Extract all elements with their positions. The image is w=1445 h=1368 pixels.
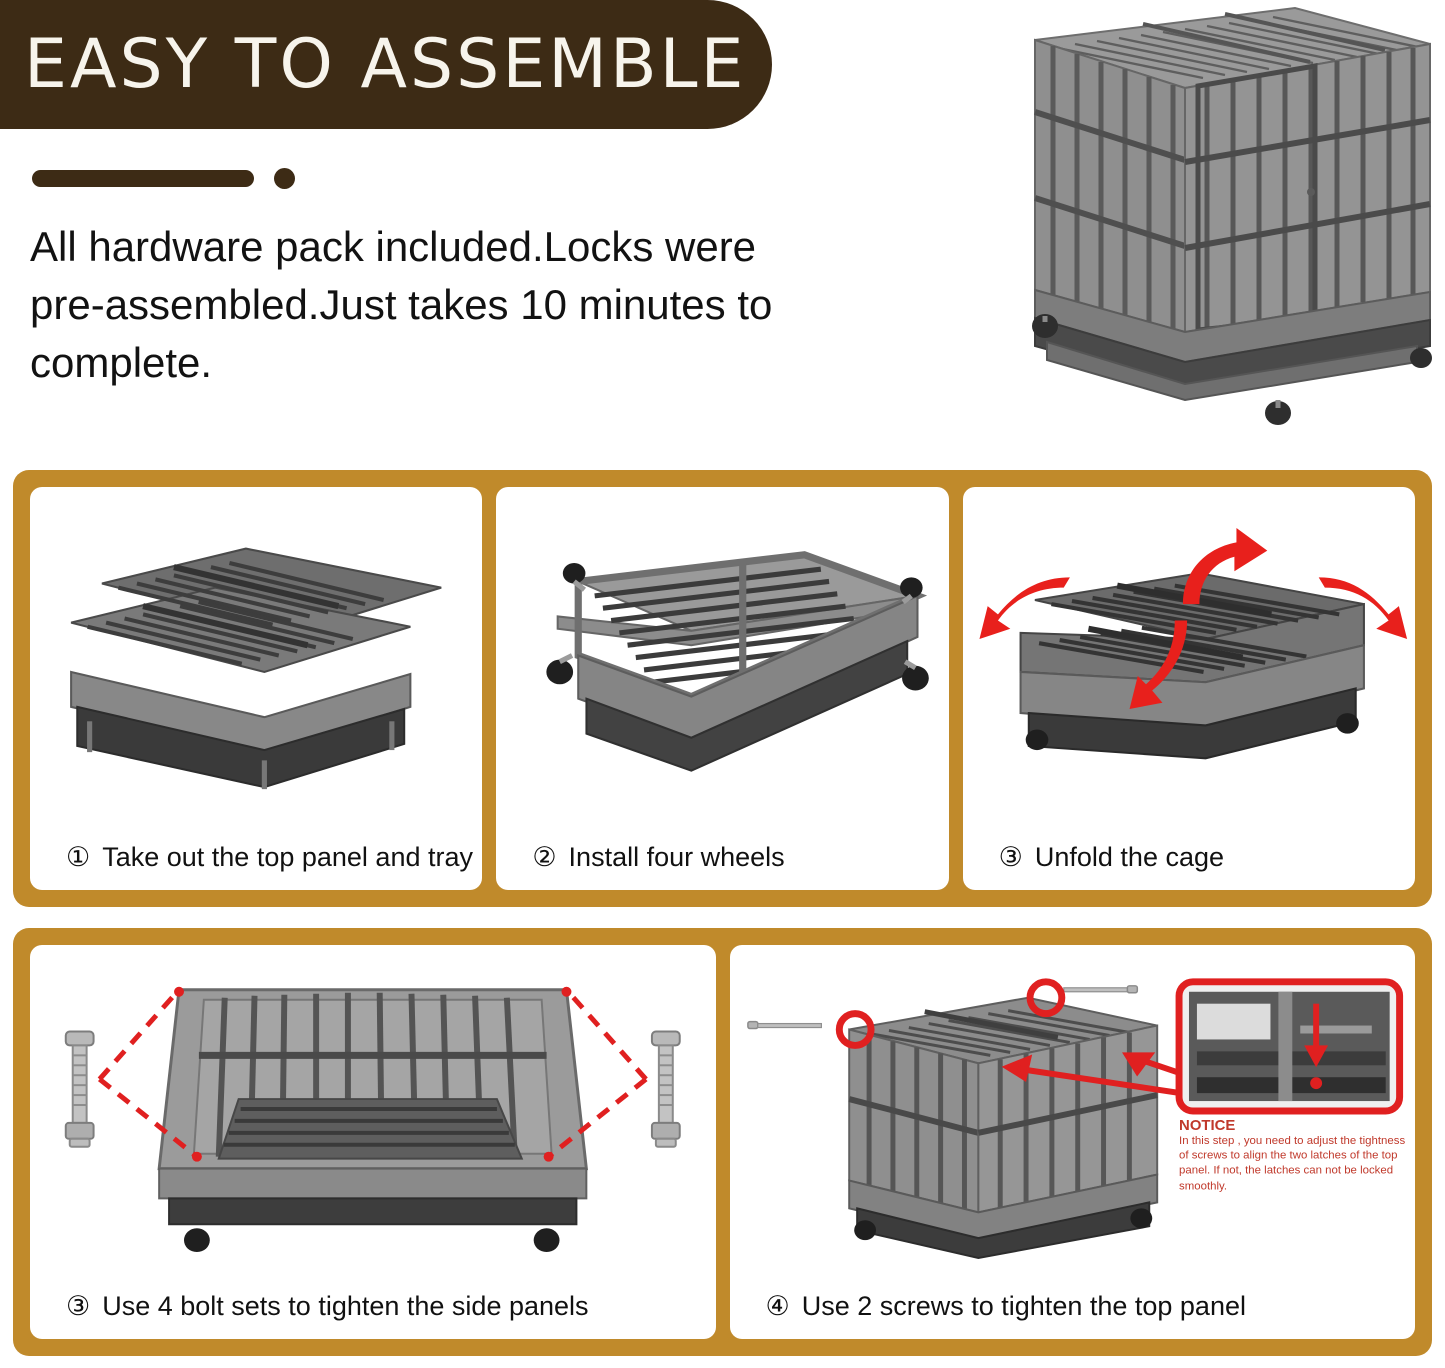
divider-dot <box>274 168 295 189</box>
step-card-5: NOTICE In this step , you need to adjust… <box>730 945 1416 1339</box>
screw-right <box>1063 986 1137 993</box>
step-4-illustration <box>30 945 716 1273</box>
step-2-number: ② <box>532 842 556 873</box>
notice-block: NOTICE In this step , you need to adjust… <box>1179 1117 1408 1194</box>
step-1-caption-row: ① Take out the top panel and tray <box>30 824 482 890</box>
header-description: All hardware pack included.Locks were pr… <box>30 218 790 392</box>
step-card-1: ① Take out the top panel and tray <box>30 487 482 890</box>
step-card-2: ② Install four wheels <box>496 487 948 890</box>
cage-with-screw-callouts-icon: NOTICE In this step , you need to adjust… <box>730 945 1416 1273</box>
step-5-illustration: NOTICE In this step , you need to adjust… <box>730 945 1416 1273</box>
hero-product-image <box>885 2 1440 427</box>
frame-with-four-wheels-icon <box>496 487 948 824</box>
cage-with-bolt-callouts-icon <box>30 945 716 1273</box>
step-5-caption: Use 2 screws to tighten the top panel <box>802 1291 1246 1322</box>
folded-cage-with-unfold-arrows-icon <box>963 487 1415 824</box>
folded-panels-and-tray-icon <box>30 487 482 824</box>
step-3-number: ③ <box>999 842 1023 873</box>
notice-title: NOTICE <box>1179 1117 1408 1134</box>
step-4-caption: Use 4 bolt sets to tighten the side pane… <box>102 1291 588 1322</box>
step-3-illustration <box>963 487 1415 824</box>
step-2-caption: Install four wheels <box>569 842 785 873</box>
page-title: EASY TO ASSEMBLE <box>0 25 746 104</box>
step-3-caption: Unfold the cage <box>1035 842 1224 873</box>
dog-crate-illustration <box>885 2 1440 427</box>
steps-row-top: ① Take out the top panel and tray <box>13 470 1432 907</box>
step-4-number: ③ <box>66 1291 90 1322</box>
step-1-caption: Take out the top panel and tray <box>102 842 473 873</box>
screw-left <box>747 1022 821 1029</box>
bolt-right <box>652 1032 680 1147</box>
step-1-illustration <box>30 487 482 824</box>
step-2-illustration <box>496 487 948 824</box>
step-1-number: ① <box>66 842 90 873</box>
divider-bar <box>32 170 254 187</box>
step-card-3: ③ Unfold the cage <box>963 487 1415 890</box>
step-2-caption-row: ② Install four wheels <box>496 824 948 890</box>
header-badge: EASY TO ASSEMBLE <box>0 0 772 129</box>
step-card-4: ③ Use 4 bolt sets to tighten the side pa… <box>30 945 716 1339</box>
steps-row-bottom: ③ Use 4 bolt sets to tighten the side pa… <box>13 928 1432 1356</box>
step-5-caption-row: ④ Use 2 screws to tighten the top panel <box>730 1273 1416 1339</box>
step-5-number: ④ <box>766 1291 790 1322</box>
latch-detail-inset <box>1179 982 1400 1111</box>
bolt-left <box>66 1032 94 1147</box>
step-3-caption-row: ③ Unfold the cage <box>963 824 1415 890</box>
step-4-caption-row: ③ Use 4 bolt sets to tighten the side pa… <box>30 1273 716 1339</box>
infographic-page: EASY TO ASSEMBLE All hardware pack inclu… <box>0 0 1445 1368</box>
notice-body: In this step , you need to adjust the ti… <box>1179 1134 1408 1194</box>
